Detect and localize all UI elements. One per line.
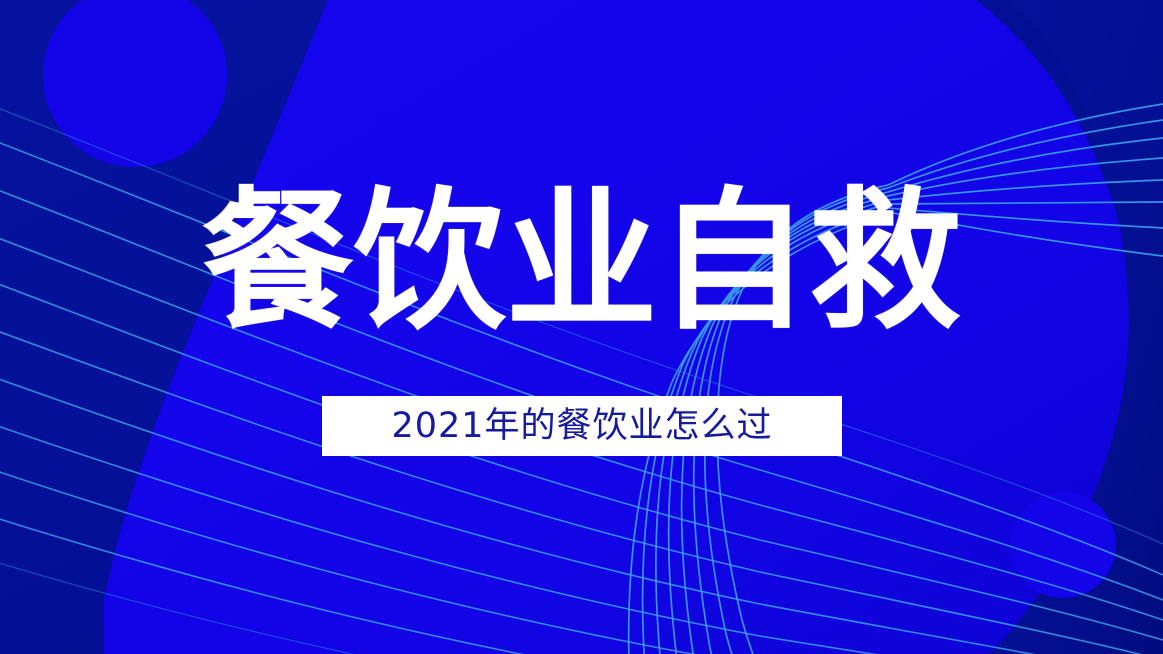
subtitle-banner: 2021年的餐饮业怎么过 <box>322 396 842 456</box>
title-block: 餐饮业自救 <box>0 186 1163 338</box>
presentation-slide: 餐饮业自救 2021年的餐饮业怎么过 <box>0 0 1163 654</box>
subtitle-text: 2021年的餐饮业怎么过 <box>391 409 772 444</box>
slide-content: 餐饮业自救 2021年的餐饮业怎么过 <box>0 0 1163 654</box>
page-title: 餐饮业自救 <box>202 186 962 338</box>
